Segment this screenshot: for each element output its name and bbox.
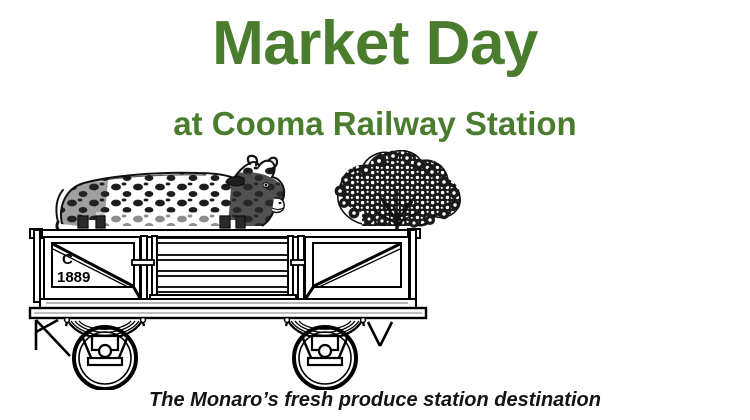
page-subtitle: at Cooma Railway Station [0, 103, 750, 145]
tagline: The Monaro’s fresh produce station desti… [0, 387, 750, 413]
wagon-marking-letter: C [62, 251, 73, 268]
wagon-right-panel [305, 237, 409, 299]
wagon-centre-gate [132, 236, 313, 302]
wagon-illustration: C 1889 [0, 150, 750, 390]
tree-graphic [330, 150, 475, 236]
wagon-left-wheel-assembly [36, 318, 145, 389]
wagon-marking-year: 1889 [57, 269, 90, 286]
wagon-right-wheel-assembly [285, 318, 392, 389]
railway-wagon-graphic: C 1889 [30, 229, 426, 389]
poster-canvas: Market Day at Cooma Railway Station [0, 0, 750, 420]
wagon-left-panel [44, 237, 140, 299]
cow-graphic [50, 150, 300, 236]
page-title: Market Day [0, 6, 750, 82]
